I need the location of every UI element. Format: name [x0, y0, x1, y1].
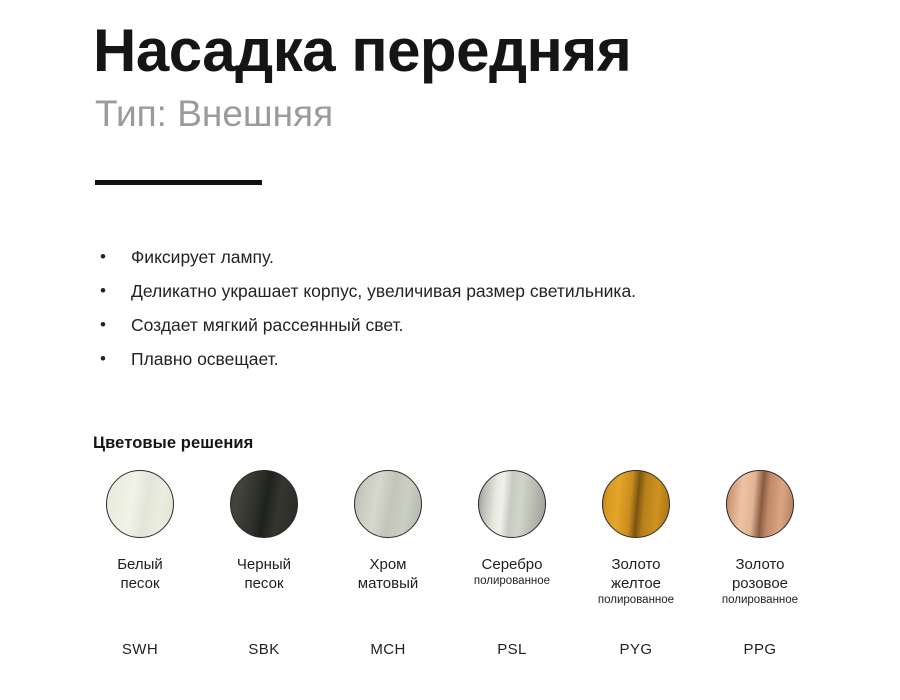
- color-swatch-finish: полированное: [474, 574, 550, 589]
- color-swatch-code: PYG: [620, 640, 653, 659]
- bullet-icon: •: [97, 240, 109, 274]
- color-swatch-code: PPG: [744, 640, 777, 659]
- feature-item-label: Создает мягкий рассеянный свет.: [131, 315, 403, 335]
- color-swatch-mch[interactable]: Хром матовыйMCH: [326, 470, 450, 593]
- color-swatch-name: Серебро: [482, 555, 543, 574]
- color-swatch-name: Хром матовый: [358, 555, 419, 593]
- color-swatch-finish: полированное: [598, 593, 674, 608]
- color-disc-icon[interactable]: [478, 470, 546, 538]
- color-swatch-name: Золото желтое: [611, 555, 661, 593]
- feature-item-label: Фиксирует лампу.: [131, 247, 274, 267]
- color-disc-icon[interactable]: [230, 470, 298, 538]
- color-disc-icon[interactable]: [602, 470, 670, 538]
- color-swatch-swh[interactable]: Белый песокSWH: [78, 470, 202, 593]
- color-swatch-sbk[interactable]: Черный песокSBK: [202, 470, 326, 593]
- bullet-icon: •: [97, 342, 109, 376]
- feature-item: •Фиксирует лампу.: [93, 240, 853, 274]
- feature-list: •Фиксирует лампу.•Деликатно украшает кор…: [93, 240, 853, 376]
- color-disc-icon[interactable]: [106, 470, 174, 538]
- color-swatch-psl[interactable]: СереброполированноеPSL: [450, 470, 574, 589]
- bullet-icon: •: [97, 274, 109, 308]
- header: Насадка передняя Тип: Внешняя: [93, 16, 853, 138]
- color-swatch-code: SWH: [122, 640, 158, 659]
- color-swatch-name: Черный песок: [237, 555, 291, 593]
- color-disc-icon[interactable]: [354, 470, 422, 538]
- feature-item-label: Плавно освещает.: [131, 349, 279, 369]
- product-spec-page: Насадка передняя Тип: Внешняя •Фиксирует…: [0, 0, 900, 700]
- color-disc-icon[interactable]: [726, 470, 794, 538]
- bullet-icon: •: [97, 308, 109, 342]
- color-swatch-name: Золото розовое: [732, 555, 788, 593]
- color-swatch-code: MCH: [370, 640, 405, 659]
- color-swatch-ppg[interactable]: Золото розовоеполированноеPPG: [698, 470, 822, 608]
- page-subtitle: Тип: Внешняя: [95, 90, 853, 138]
- feature-item: •Деликатно украшает корпус, увеличивая р…: [93, 274, 853, 308]
- color-swatch-finish: полированное: [722, 593, 798, 608]
- color-swatch-pyg[interactable]: Золото желтоеполированноеPYG: [574, 470, 698, 608]
- colors-section-heading: Цветовые решения: [93, 434, 253, 453]
- feature-item: •Создает мягкий рассеянный свет.: [93, 308, 853, 342]
- color-swatch-name: Белый песок: [117, 555, 163, 593]
- feature-item: •Плавно освещает.: [93, 342, 853, 376]
- title-divider: [95, 180, 262, 185]
- page-title: Насадка передняя: [93, 16, 853, 86]
- color-swatch-code: SBK: [248, 640, 279, 659]
- color-swatch-row: Белый песокSWHЧерный песокSBKХром матовы…: [78, 470, 822, 608]
- feature-item-label: Деликатно украшает корпус, увеличивая ра…: [131, 281, 636, 301]
- color-swatch-code: PSL: [497, 640, 527, 659]
